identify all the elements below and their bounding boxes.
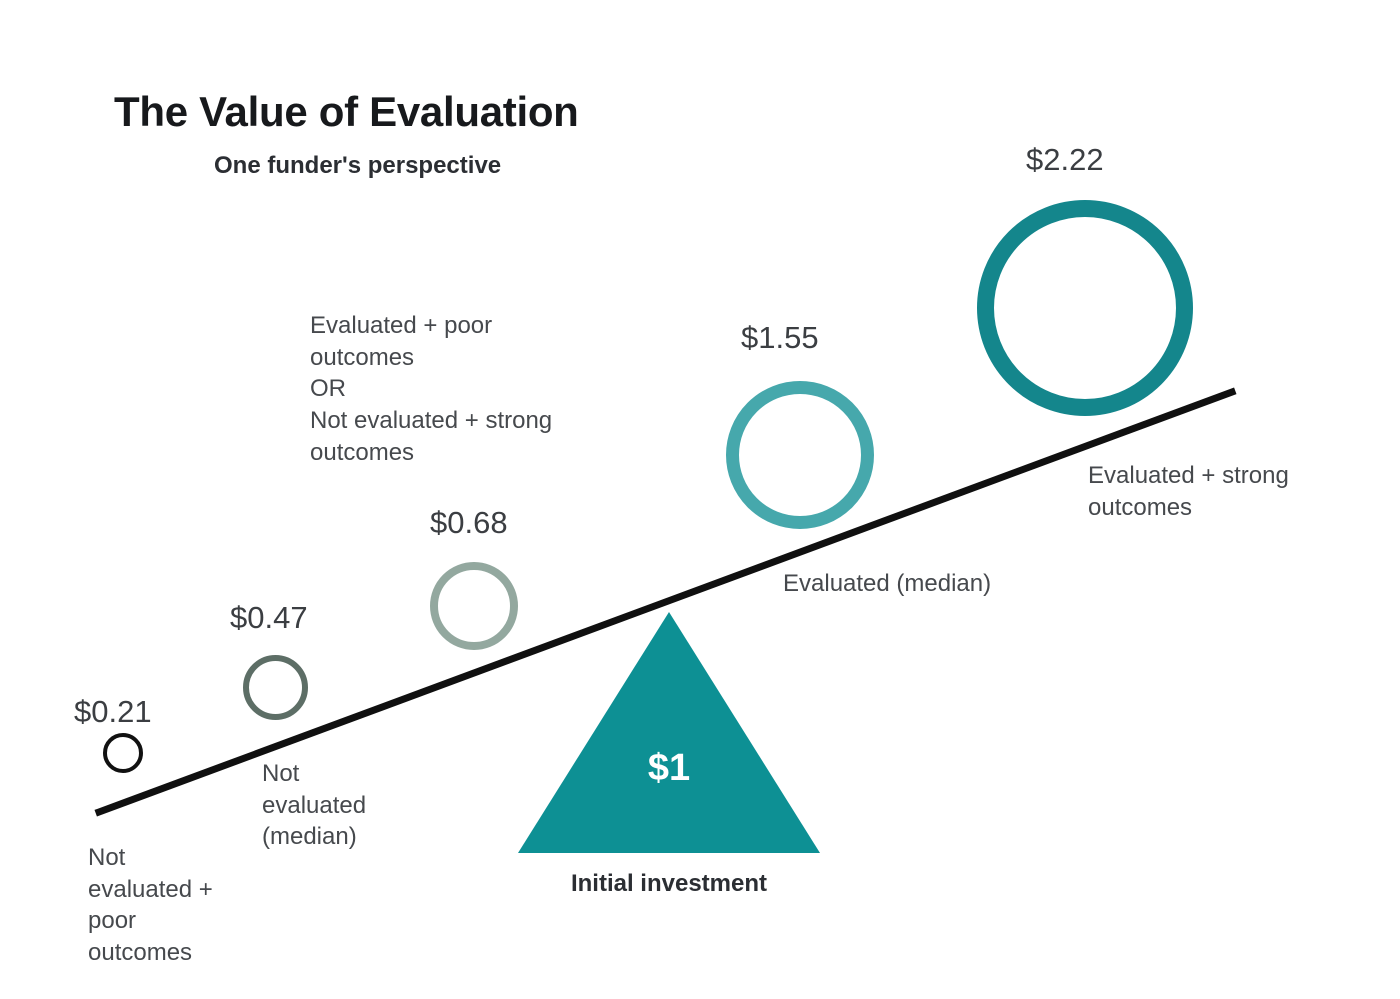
- triangle-shape: [518, 612, 820, 853]
- value-label-0-21: $0.21: [74, 694, 152, 730]
- triangle-value-label: $1: [518, 747, 820, 790]
- value-label-1-55: $1.55: [741, 320, 819, 356]
- infographic-canvas: The Value of Evaluation One funder's per…: [0, 0, 1400, 999]
- annotation-evaluated-strong: Evaluated + strong outcomes: [1088, 460, 1289, 523]
- fulcrum-triangle: $1: [518, 612, 820, 853]
- value-label-2-22: $2.22: [1026, 142, 1104, 178]
- value-label-0-47: $0.47: [230, 600, 308, 636]
- page-title: The Value of Evaluation: [114, 88, 579, 136]
- ring-marker-0-68: [430, 562, 518, 650]
- value-label-0-68: $0.68: [430, 505, 508, 541]
- annotation-evaluated-median: Evaluated (median): [783, 568, 991, 600]
- annotation-not-evaluated-median: Not evaluated (median): [262, 758, 366, 853]
- annotation-not-evaluated-poor: Not evaluated + poor outcomes: [88, 842, 213, 969]
- ring-marker-1-55: [726, 381, 874, 529]
- page-subtitle: One funder's perspective: [214, 152, 501, 180]
- fulcrum-caption: Initial investment: [518, 870, 820, 898]
- ring-marker-0-21: [103, 733, 143, 773]
- annotation-evaluated-poor-or-not-evaluated-strong: Evaluated + poor outcomes OR Not evaluat…: [310, 310, 552, 468]
- ring-marker-0-47: [243, 655, 308, 720]
- ring-marker-2-22: [977, 200, 1193, 416]
